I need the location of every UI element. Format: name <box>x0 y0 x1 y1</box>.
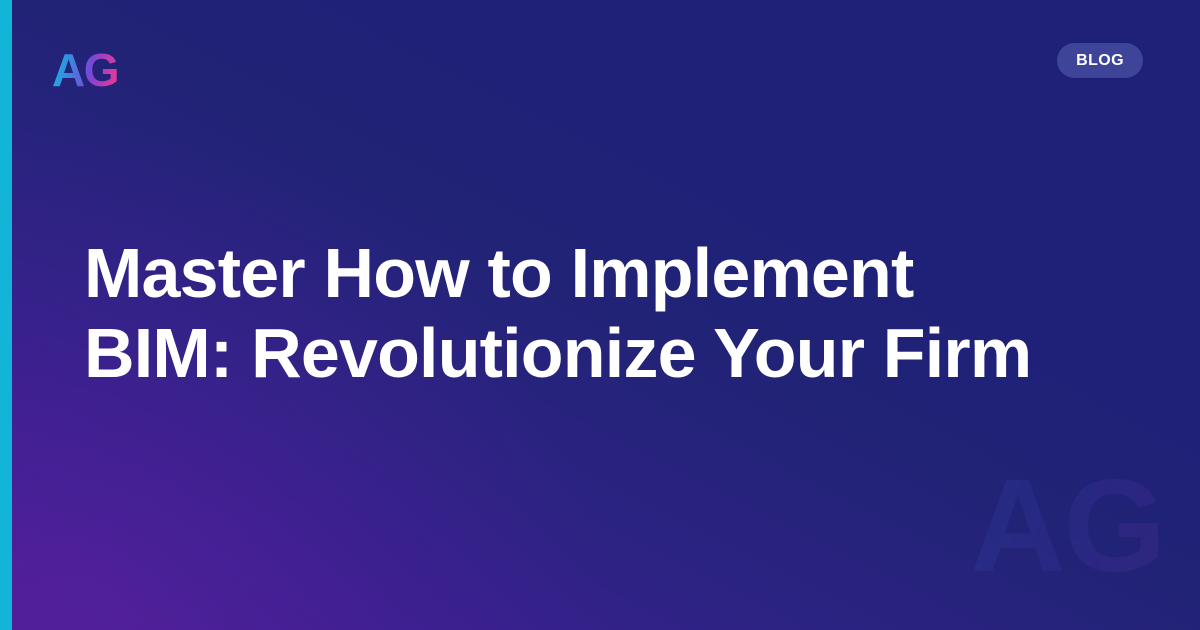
card-header: AG BLOG <box>52 43 1143 91</box>
brand-logo[interactable]: AG <box>52 47 118 93</box>
category-badge[interactable]: BLOG <box>1057 43 1143 78</box>
og-share-card: AG AG BLOG Master How to Implement BIM: … <box>0 0 1200 630</box>
left-accent-bar <box>0 0 12 630</box>
page-title: Master How to Implement BIM: Revolutioni… <box>84 233 1084 393</box>
